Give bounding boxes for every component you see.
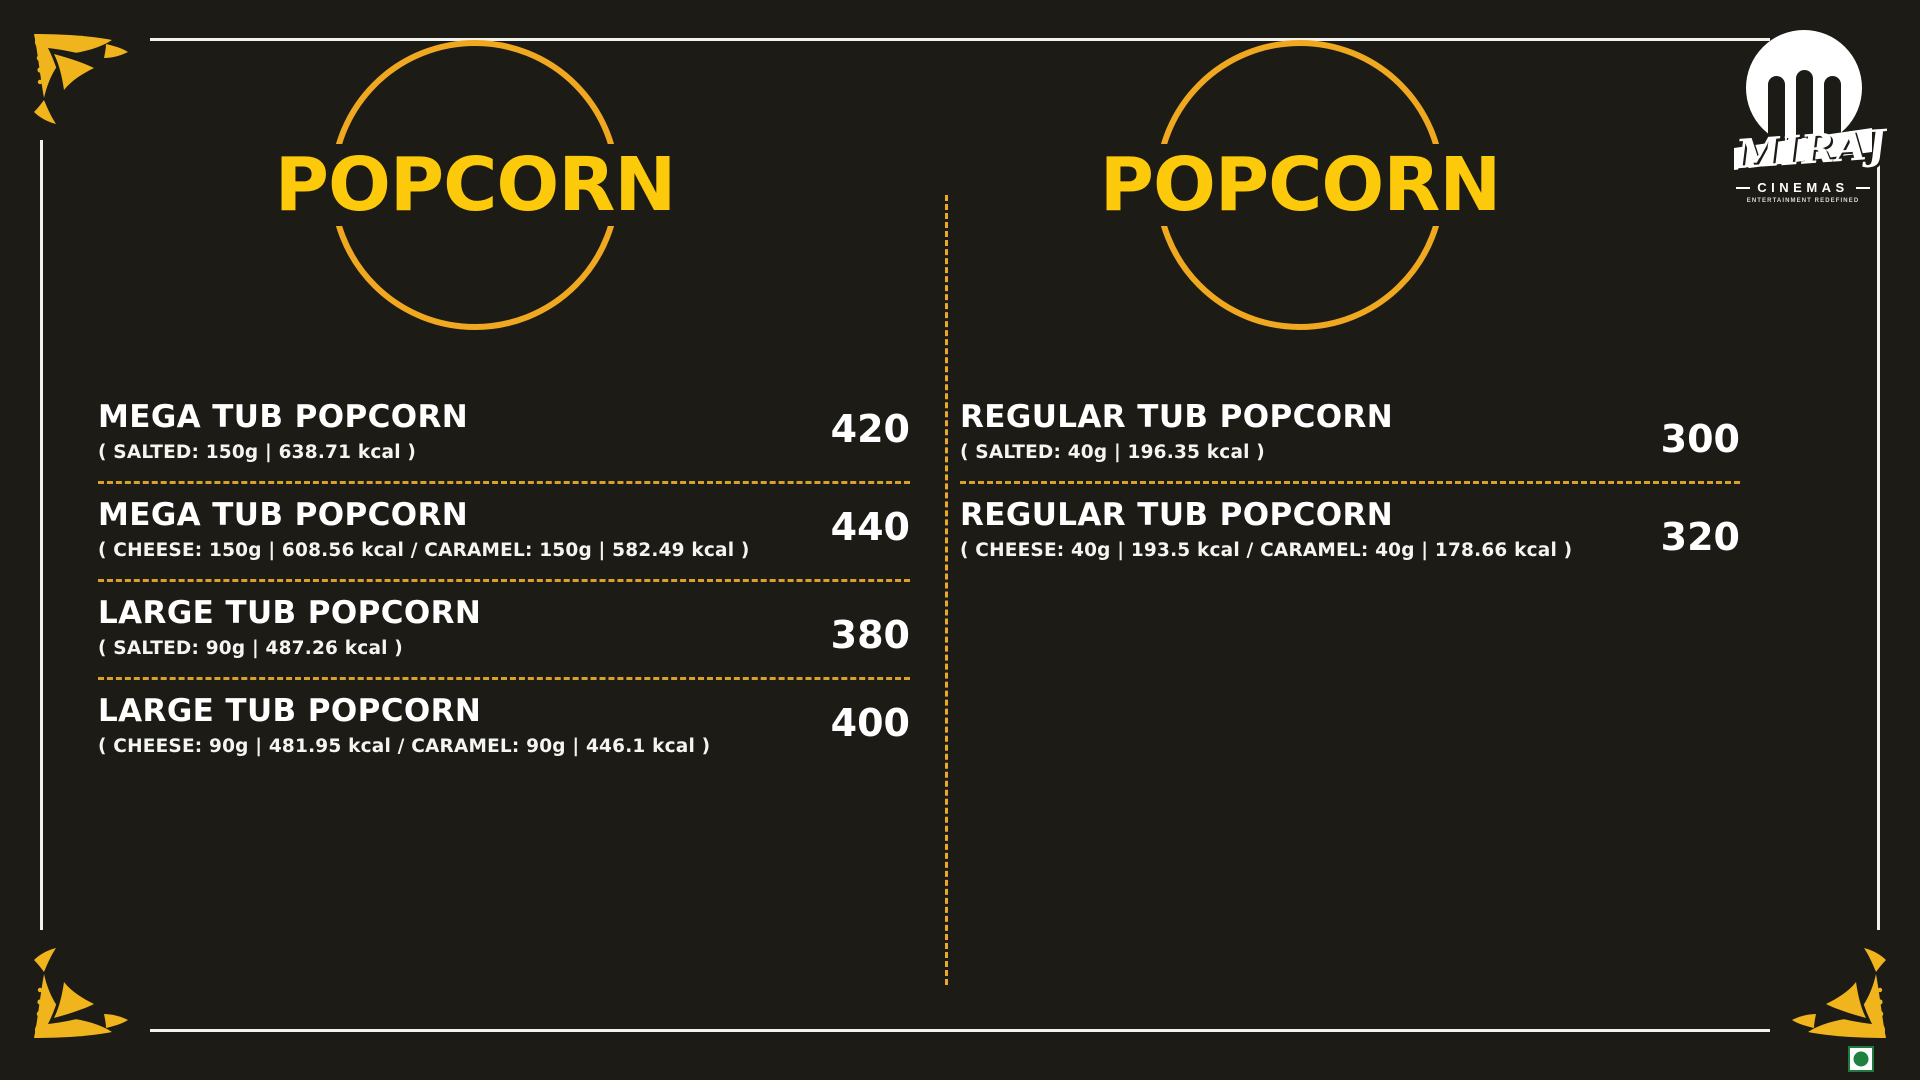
item-name: LARGE TUB POPCORN	[98, 694, 805, 729]
item-price: 320	[1661, 498, 1740, 556]
item-description: ( SALTED: 150g | 638.71 kcal )	[98, 442, 805, 463]
item-description: ( CHEESE: 90g | 481.95 kcal / CARAMEL: 9…	[98, 736, 805, 757]
row-separator	[98, 481, 910, 484]
menu-column-left: MEGA TUB POPCORN ( SALTED: 150g | 638.71…	[40, 0, 920, 1080]
vegetarian-mark-icon	[1848, 1046, 1874, 1072]
item-name: REGULAR TUB POPCORN	[960, 498, 1635, 533]
ornament-bottom-right-icon	[1786, 938, 1906, 1058]
row-separator	[960, 481, 1740, 484]
item-description: ( SALTED: 90g | 487.26 kcal )	[98, 638, 805, 659]
menu-column-right: REGULAR TUB POPCORN ( SALTED: 40g | 196.…	[960, 0, 1760, 1080]
item-name: MEGA TUB POPCORN	[98, 400, 805, 435]
item-description: ( CHEESE: 150g | 608.56 kcal / CARAMEL: …	[98, 540, 805, 561]
miraj-cinemas-logo: MIRAJ CINEMAS ENTERTAINMENT REDEFINED	[1728, 30, 1878, 220]
item-price: 300	[1661, 400, 1740, 458]
item-price: 440	[831, 498, 910, 546]
menu-list-left: MEGA TUB POPCORN ( SALTED: 150g | 638.71…	[98, 400, 910, 763]
menu-row[interactable]: LARGE TUB POPCORN ( SALTED: 90g | 487.26…	[98, 596, 910, 665]
menu-row[interactable]: LARGE TUB POPCORN ( CHEESE: 90g | 481.95…	[98, 694, 910, 763]
menu-row[interactable]: MEGA TUB POPCORN ( CHEESE: 150g | 608.56…	[98, 498, 910, 567]
row-separator	[98, 579, 910, 582]
menu-list-right: REGULAR TUB POPCORN ( SALTED: 40g | 196.…	[960, 400, 1740, 567]
menu-row[interactable]: MEGA TUB POPCORN ( SALTED: 150g | 638.71…	[98, 400, 910, 469]
menu-row[interactable]: REGULAR TUB POPCORN ( SALTED: 40g | 196.…	[960, 400, 1740, 469]
item-price: 380	[831, 596, 910, 654]
vegetarian-dot-icon	[1854, 1052, 1869, 1067]
item-name: LARGE TUB POPCORN	[98, 596, 805, 631]
logo-brand-sub: CINEMAS	[1728, 180, 1878, 195]
item-description: ( SALTED: 40g | 196.35 kcal )	[960, 442, 1635, 463]
item-price: 400	[831, 694, 910, 742]
item-description: ( CHEESE: 40g | 193.5 kcal / CARAMEL: 40…	[960, 540, 1635, 561]
menu-board: POPCORN MEGA TUB POPCORN ( SALTED: 150g …	[0, 0, 1920, 1080]
item-name: REGULAR TUB POPCORN	[960, 400, 1635, 435]
frame-right-line	[1877, 140, 1880, 930]
row-separator	[98, 677, 910, 680]
logo-tagline: ENTERTAINMENT REDEFINED	[1728, 198, 1878, 204]
item-name: MEGA TUB POPCORN	[98, 498, 805, 533]
item-price: 420	[831, 400, 910, 448]
column-divider	[945, 195, 948, 985]
menu-row[interactable]: REGULAR TUB POPCORN ( CHEESE: 40g | 193.…	[960, 498, 1740, 567]
